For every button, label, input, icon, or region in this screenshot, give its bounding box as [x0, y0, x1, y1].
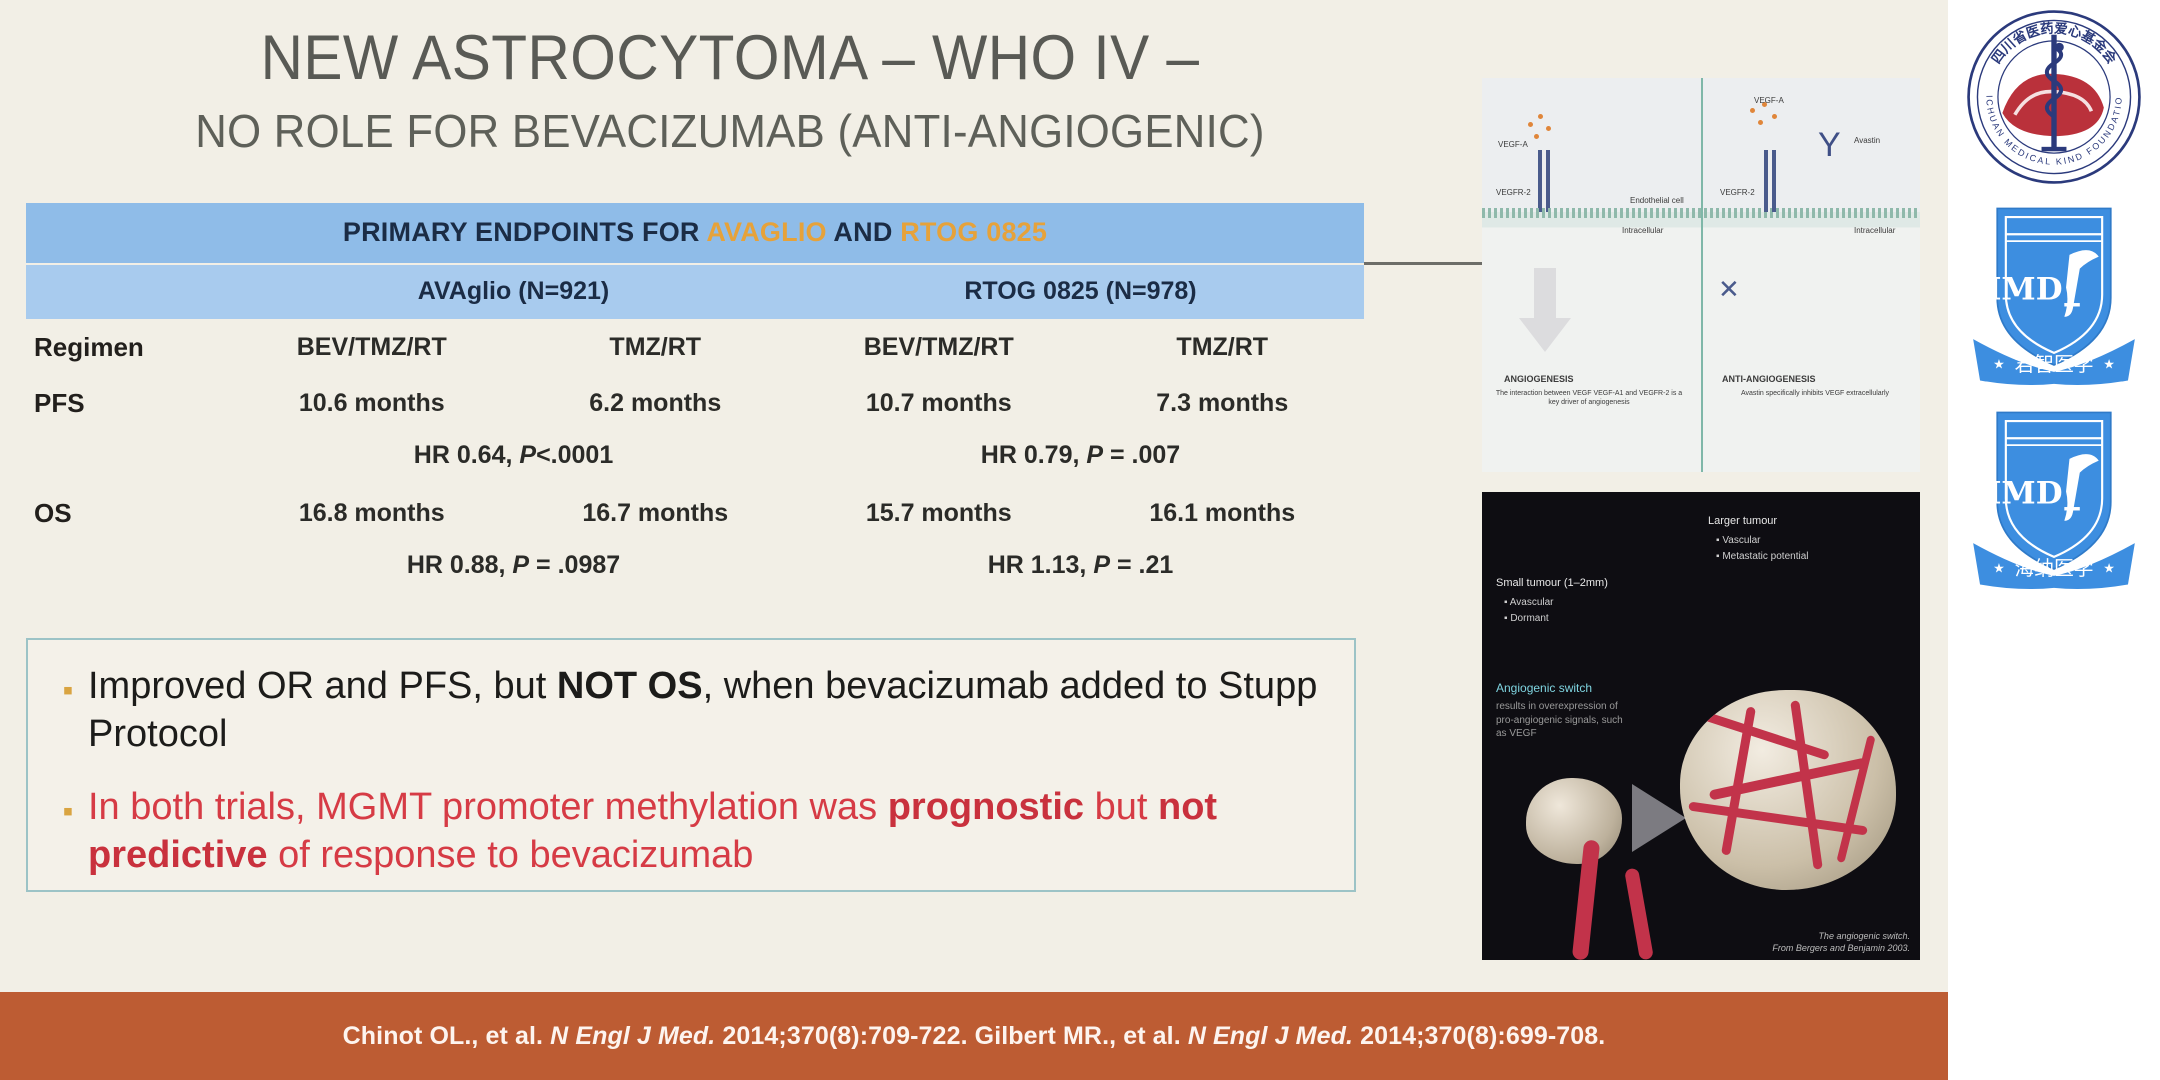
- bullet-text-2: In both trials, MGMT promoter methylatio…: [88, 783, 1334, 880]
- vegf-ligand-icon: [1534, 134, 1539, 139]
- pfs-hr-rtog: HR 0.79, P = .007: [797, 441, 1364, 470]
- large-tumour-shape: [1680, 690, 1896, 890]
- cell-pfs-avaglio-tmz: 6.2 months: [514, 389, 798, 418]
- table-header-prefix: PRIMARY ENDPOINTS FOR: [343, 217, 706, 247]
- citation-text: Chinot OL., et al. N Engl J Med. 2014;37…: [343, 1022, 1606, 1051]
- vegfr2-receptor-icon: [1538, 150, 1542, 212]
- label-vegfr2-right: VEGFR-2: [1720, 188, 1755, 197]
- os-hr-rtog-p-value: = .21: [1110, 551, 1173, 579]
- bullet-1-bold: NOT OS: [557, 665, 703, 707]
- presentation-slide: NEW ASTROCYTOMA – WHO IV – NO ROLE FOR B…: [0, 0, 1948, 1080]
- pfs-hr-avaglio-p-symbol: P: [519, 441, 536, 469]
- signal-arrow-stem: [1534, 268, 1556, 320]
- label-large-metastatic: ▪ Metastatic potential: [1716, 550, 1809, 564]
- vegfr2-receptor-icon: [1546, 150, 1550, 212]
- citation-b-author: Gilbert MR., et al.: [975, 1022, 1188, 1050]
- bullet-2-part1: In both trials, MGMT promoter methylatio…: [88, 786, 888, 828]
- logo2-mark: IMD: [1987, 272, 2063, 308]
- citation-b-rest: 2014;370(8):699-708.: [1353, 1022, 1605, 1050]
- os-hr-rtog-p-symbol: P: [1093, 551, 1110, 579]
- stats-spacer: [26, 551, 230, 580]
- cell-regimen-avaglio-tmz: TMZ/RT: [514, 333, 798, 362]
- cell-regimen-rtog-bev: BEV/TMZ/RT: [797, 333, 1081, 362]
- table-header-trial-rtog: RTOG 0825: [900, 217, 1047, 247]
- vegf-mechanism-figure: VEGF-A VEGFR-2 Intracellular ANGIOGENESI…: [1482, 78, 1920, 472]
- vegf-ligand-icon: [1772, 114, 1777, 119]
- citation-b-journal: N Engl J Med.: [1188, 1022, 1353, 1050]
- label-small-dormant: ▪ Dormant: [1504, 612, 1549, 626]
- label-small-tumour: Small tumour (1–2mm): [1496, 576, 1608, 591]
- figure-credit-line1: The angiogenic switch.: [1818, 931, 1910, 941]
- row-label-os: OS: [26, 498, 230, 529]
- stats-spacer: [26, 441, 230, 470]
- os-hr-avaglio-p-value: = .0987: [529, 551, 620, 579]
- page-title: NEW ASTROCYTOMA – WHO IV –: [51, 22, 1409, 94]
- table-body: Regimen BEV/TMZ/RT TMZ/RT BEV/TMZ/RT TMZ…: [26, 319, 1364, 595]
- panel-divider: [1701, 78, 1703, 472]
- label-intracellular-left: Intracellular: [1622, 226, 1663, 235]
- bullet-text-1: Improved OR and PFS, but NOT OS, when be…: [88, 662, 1334, 759]
- cell-pfs-rtog-bev: 10.7 months: [797, 389, 1081, 418]
- table-header-trial-avaglio: AVAGLIO: [706, 217, 826, 247]
- vegf-ligand-icon: [1528, 122, 1533, 127]
- cell-os-avaglio-tmz: 16.7 months: [514, 499, 798, 528]
- label-vegf-a-right: VEGF-A: [1754, 96, 1784, 105]
- os-stats-row: HR 0.88, P = .0987 HR 1.13, P = .21: [26, 542, 1364, 595]
- citation-footer: Chinot OL., et al. N Engl J Med. 2014;37…: [0, 992, 1948, 1080]
- logo-sidebar: 四川省医药爱心基金会 SICHUAN MEDICAL KIND FOUNDATI…: [1948, 0, 2160, 1080]
- table-group-header-row: AVAglio (N=921) RTOG 0825 (N=978): [26, 263, 1364, 319]
- group-header-avaglio: AVAglio (N=921): [230, 265, 797, 319]
- pfs-hr-avaglio-value: HR 0.64,: [414, 441, 520, 469]
- conclusions-box: ▪ Improved OR and PFS, but NOT OS, when …: [26, 638, 1356, 892]
- label-vegfr2-left: VEGFR-2: [1496, 188, 1531, 197]
- vessel-icon: [1688, 802, 1868, 836]
- vegf-ligand-icon: [1758, 120, 1763, 125]
- vegf-ligand-icon: [1538, 114, 1543, 119]
- cell-regimen-rtog-tmz: TMZ/RT: [1081, 333, 1365, 362]
- list-item: ▪ Improved OR and PFS, but NOT OS, when …: [28, 662, 1354, 759]
- vegfr2-receptor-icon: [1772, 150, 1776, 212]
- citation-a-journal: N Engl J Med.: [550, 1022, 715, 1050]
- callout-connector-line: [1364, 262, 1484, 265]
- label-endothelial-cell: Endothelial cell: [1630, 196, 1684, 205]
- logo2-ribbon-text: 君智医学: [2014, 353, 2093, 376]
- table-row: Regimen BEV/TMZ/RT TMZ/RT BEV/TMZ/RT TMZ…: [26, 319, 1364, 375]
- os-hr-rtog: HR 1.13, P = .21: [797, 551, 1364, 580]
- slide-title-block: NEW ASTROCYTOMA – WHO IV – NO ROLE FOR B…: [0, 22, 1460, 158]
- pfs-hr-avaglio-p-value: <.0001: [536, 441, 613, 469]
- figure-credit-line2: From Bergers and Benjamin 2003.: [1772, 943, 1910, 953]
- os-hr-avaglio-p-symbol: P: [512, 551, 529, 579]
- logo2-star-right-icon: ★: [2103, 356, 2115, 371]
- tumour-illustration: Small tumour (1–2mm) ▪ Avascular ▪ Dorma…: [1482, 492, 1920, 960]
- cell-os-rtog-bev: 15.7 months: [797, 499, 1081, 528]
- list-item: ▪ In both trials, MGMT promoter methylat…: [28, 783, 1354, 880]
- os-hr-rtog-value: HR 1.13,: [988, 551, 1094, 579]
- small-tumour-shape: [1526, 778, 1622, 864]
- imd-junzhi-medical-logo: IMD ★ ★ 君智医学: [1968, 196, 2140, 386]
- cell-os-rtog-tmz: 16.1 months: [1081, 499, 1365, 528]
- page-subtitle: NO ROLE FOR BEVACIZUMAB (ANTI-ANGIOGENIC…: [37, 104, 1424, 158]
- endpoints-table: PRIMARY ENDPOINTS FOR AVAGLIO AND RTOG 0…: [26, 203, 1364, 595]
- label-angiogenesis: ANGIOGENESIS: [1504, 374, 1574, 384]
- pfs-hr-rtog-value: HR 0.79,: [981, 441, 1087, 469]
- vessel-icon: [1836, 735, 1875, 863]
- cell-regimen-avaglio-bev: BEV/TMZ/RT: [230, 333, 514, 362]
- sichuan-medical-kind-foundation-logo: 四川省医药爱心基金会 SICHUAN MEDICAL KIND FOUNDATI…: [1965, 8, 2143, 186]
- cell-os-avaglio-bev: 16.8 months: [230, 499, 514, 528]
- table-header-conjunction: AND: [827, 217, 901, 247]
- angiogenic-switch-figure: Small tumour (1–2mm) ▪ Avascular ▪ Dorma…: [1482, 492, 1920, 960]
- pfs-hr-rtog-p-symbol: P: [1086, 441, 1103, 469]
- cell-pfs-rtog-tmz: 7.3 months: [1081, 389, 1365, 418]
- table-header-bar: PRIMARY ENDPOINTS FOR AVAGLIO AND RTOG 0…: [26, 203, 1364, 263]
- citation-a-rest: 2014;370(8):709-722.: [715, 1022, 974, 1050]
- bullet-2-bold-prognostic: prognostic: [888, 786, 1084, 828]
- vegfr2-receptor-icon: [1764, 150, 1768, 212]
- row-label-regimen: Regimen: [26, 332, 230, 363]
- label-avastin: Avastin: [1854, 136, 1880, 145]
- label-large-vascular: ▪ Vascular: [1716, 534, 1761, 548]
- logo3-ribbon-text: 海纳医学: [2014, 557, 2093, 580]
- label-vegf-a-left: VEGF-A: [1498, 140, 1528, 149]
- group-header-rtog: RTOG 0825 (N=978): [797, 265, 1364, 319]
- feeding-vessel-icon: [1624, 867, 1654, 960]
- imd-haina-medical-logo: IMD ★ ★ 海纳医学: [1968, 400, 2140, 590]
- citation-a-author: Chinot OL., et al.: [343, 1022, 550, 1050]
- os-hr-avaglio-value: HR 0.88,: [407, 551, 513, 579]
- vessel-icon: [1790, 700, 1823, 870]
- angiogenic-switch-arrow-icon: [1632, 784, 1686, 852]
- table-row: PFS 10.6 months 6.2 months 10.7 months 7…: [26, 375, 1364, 432]
- vegf-ligand-icon: [1750, 108, 1755, 113]
- bullet-dot-icon: ▪: [48, 783, 88, 880]
- cell-membrane-icon: [1482, 208, 1920, 218]
- cell-pfs-avaglio-bev: 10.6 months: [230, 389, 514, 418]
- figure-credit: The angiogenic switch. From Bergers and …: [1772, 930, 1910, 954]
- pfs-hr-rtog-p-value: = .007: [1103, 441, 1180, 469]
- table-row: OS 16.8 months 16.7 months 15.7 months 1…: [26, 485, 1364, 542]
- signal-arrow-head: [1519, 318, 1571, 352]
- label-small-avascular: ▪ Avascular: [1504, 596, 1554, 610]
- group-header-spacer: [26, 265, 230, 319]
- label-angiogenic-switch-body: results in overexpression of pro-angioge…: [1496, 700, 1628, 741]
- bullet-2-part2: but: [1084, 786, 1158, 828]
- caption-right: Avastin specifically inhibits VEGF extra…: [1720, 390, 1910, 399]
- caption-left: The interaction between VEGF VEGF-A1 and…: [1494, 390, 1684, 408]
- logo3-mark: IMD: [1987, 476, 2063, 512]
- vessel-icon: [1694, 709, 1830, 761]
- label-anti-angiogenesis: ANTI-ANGIOGENESIS: [1722, 374, 1816, 384]
- label-large-tumour: Larger tumour: [1708, 514, 1777, 529]
- logo3-star-right-icon: ★: [2103, 560, 2115, 575]
- pfs-hr-avaglio: HR 0.64, P<.0001: [230, 441, 797, 470]
- label-angiogenic-switch: Angiogenic switch: [1496, 680, 1592, 696]
- os-hr-avaglio: HR 0.88, P = .0987: [230, 551, 797, 580]
- logo2-star-left-icon: ★: [1993, 356, 2005, 371]
- bullet-2-part3: of response to bevacizumab: [268, 834, 754, 876]
- vegf-ligand-icon: [1546, 126, 1551, 131]
- avastin-antibody-icon: Y: [1818, 128, 1841, 162]
- mechanism-diagram: VEGF-A VEGFR-2 Intracellular ANGIOGENESI…: [1482, 78, 1920, 472]
- bullet-dot-icon: ▪: [48, 662, 88, 759]
- blocked-signal-icon: ✕: [1718, 274, 1740, 305]
- bullet-1-part1: Improved OR and PFS, but: [88, 665, 557, 707]
- pfs-stats-row: HR 0.64, P<.0001 HR 0.79, P = .007: [26, 432, 1364, 485]
- slide-screenshot: NEW ASTROCYTOMA – WHO IV – NO ROLE FOR B…: [0, 0, 2160, 1080]
- row-label-pfs: PFS: [26, 388, 230, 419]
- label-intracellular-right: Intracellular: [1854, 226, 1895, 235]
- logo3-star-left-icon: ★: [1993, 560, 2005, 575]
